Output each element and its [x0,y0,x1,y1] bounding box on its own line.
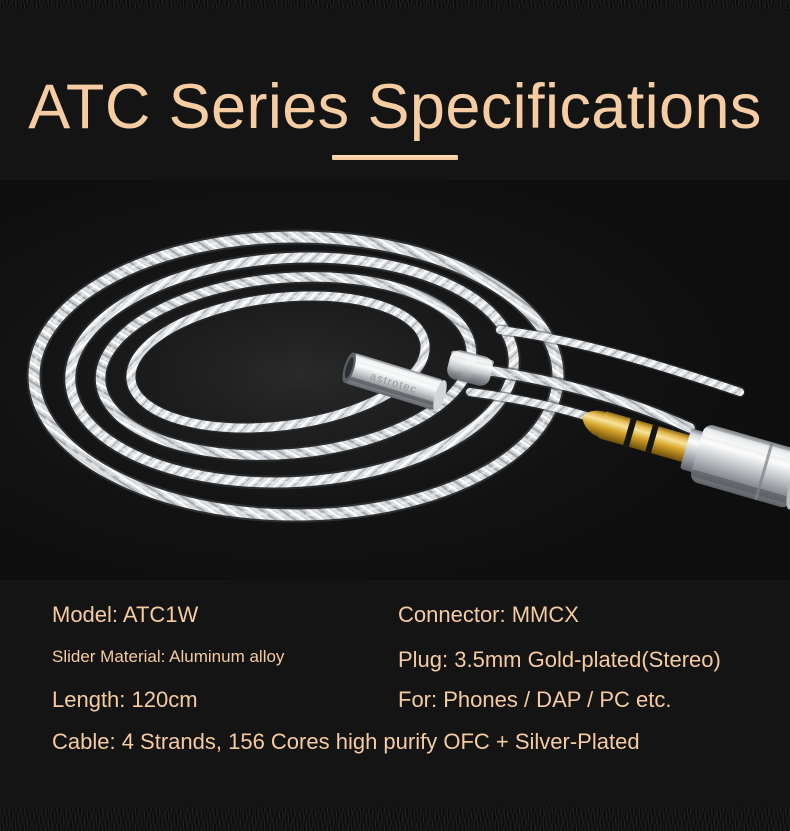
specifications-block: Model: ATC1W Slider Material: Aluminum a… [0,596,790,776]
spec-slider-material: Slider Material: Aluminum alloy [52,647,284,667]
spec-model: Model: ATC1W [52,602,198,628]
product-photo: astrotec [0,180,790,580]
spec-connector: Connector: MMCX [398,602,579,628]
audio-plug [574,390,790,511]
top-texture-band [0,0,790,9]
spec-cable: Cable: 4 Strands, 156 Cores high purify … [52,729,640,755]
page-title: ATC Series Specifications [0,72,790,142]
title-underline [332,155,458,160]
cable-illustration: astrotec [0,180,790,580]
spec-plug: Plug: 3.5mm Gold-plated(Stereo) [398,647,721,673]
page-title-block: ATC Series Specifications [0,72,790,142]
spec-length: Length: 120cm [52,687,198,713]
spec-for: For: Phones / DAP / PC etc. [398,687,672,713]
spec-sheet-page: ATC Series Specifications [0,0,790,831]
bottom-texture-band [0,807,790,831]
